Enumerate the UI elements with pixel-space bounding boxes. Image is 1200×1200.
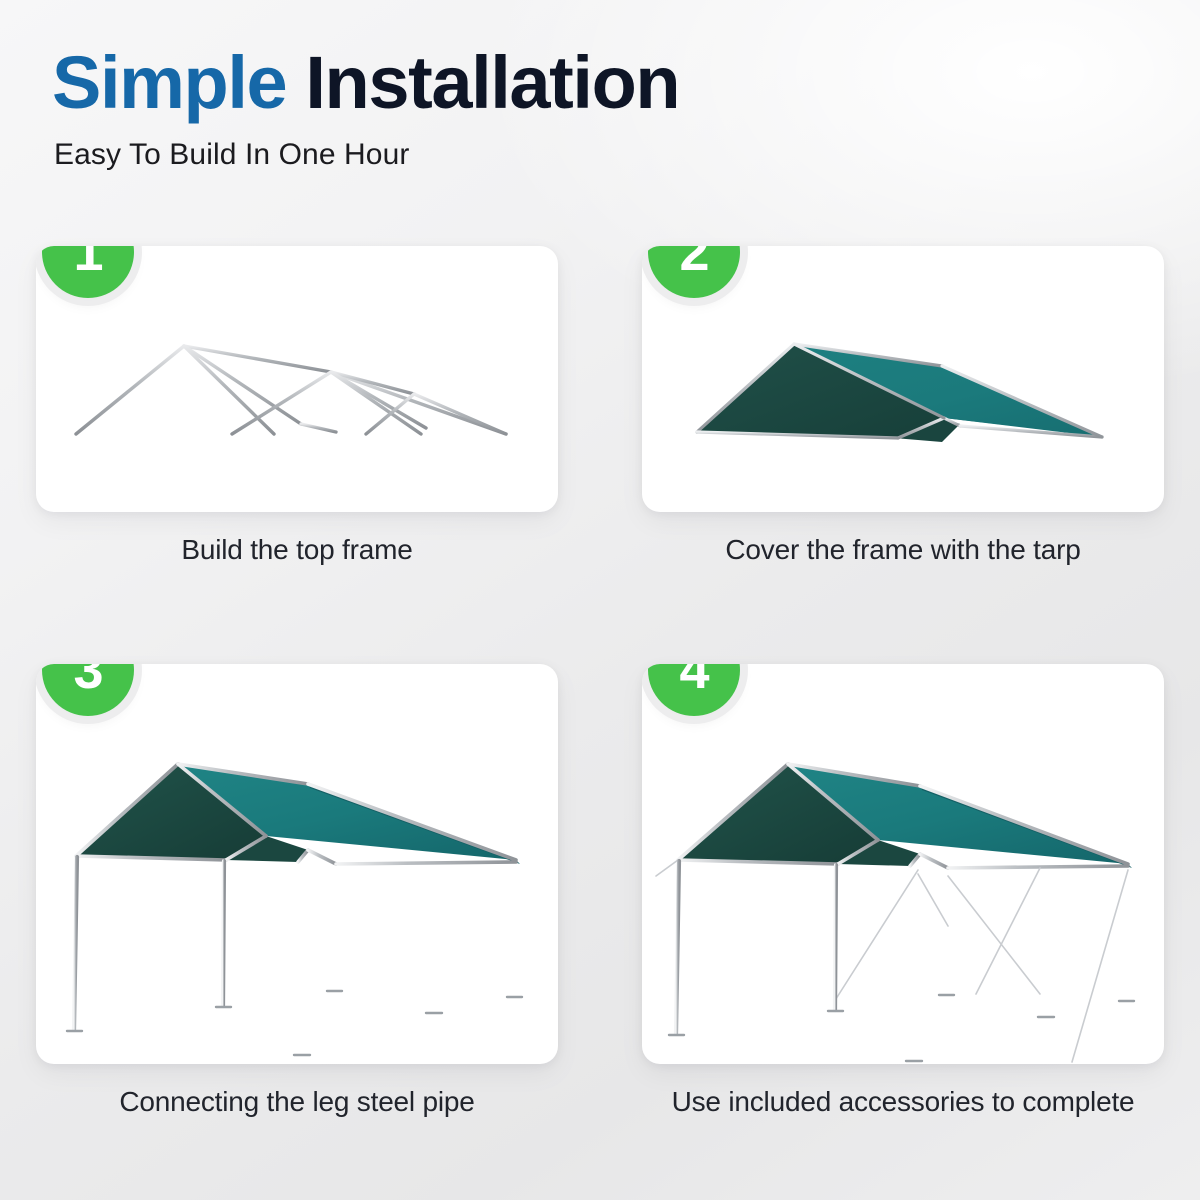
step-4-illustration [642, 664, 1164, 1064]
steps-grid: 1 Build the top frame [0, 246, 1200, 1156]
step-3-illustration [36, 664, 558, 1064]
step-3-caption: Connecting the leg steel pipe [36, 1086, 558, 1118]
header: Simple Installation Easy To Build In One… [52, 46, 1052, 172]
title-accent-word: Simple [52, 41, 286, 124]
step-4-number: 4 [679, 664, 708, 697]
step-1: 1 Build the top frame [36, 246, 558, 566]
page-title: Simple Installation [52, 46, 1052, 120]
installation-infographic: Simple Installation Easy To Build In One… [0, 0, 1200, 1200]
step-2-number: 2 [679, 246, 708, 279]
step-4: 4 Use included accessories to complete [642, 664, 1164, 1118]
step-3-number: 3 [73, 664, 102, 697]
step-3: 3 Connecting the leg steel pipe [36, 664, 558, 1118]
step-2-card: 2 [642, 246, 1164, 512]
steps-row-2: 3 Connecting the leg steel pipe [0, 664, 1200, 1156]
step-2-caption: Cover the frame with the tarp [642, 534, 1164, 566]
step-1-number: 1 [73, 246, 102, 279]
step-2: 2 Cover the frame with the tarp [642, 246, 1164, 566]
title-rest: Installation [286, 41, 679, 124]
step-4-card: 4 [642, 664, 1164, 1064]
step-1-card: 1 [36, 246, 558, 512]
steps-row-1: 1 Build the top frame [0, 246, 1200, 604]
step-3-card: 3 [36, 664, 558, 1064]
step-1-caption: Build the top frame [36, 534, 558, 566]
step-4-caption: Use included accessories to complete [642, 1086, 1164, 1118]
page-subtitle: Easy To Build In One Hour [54, 138, 1052, 172]
